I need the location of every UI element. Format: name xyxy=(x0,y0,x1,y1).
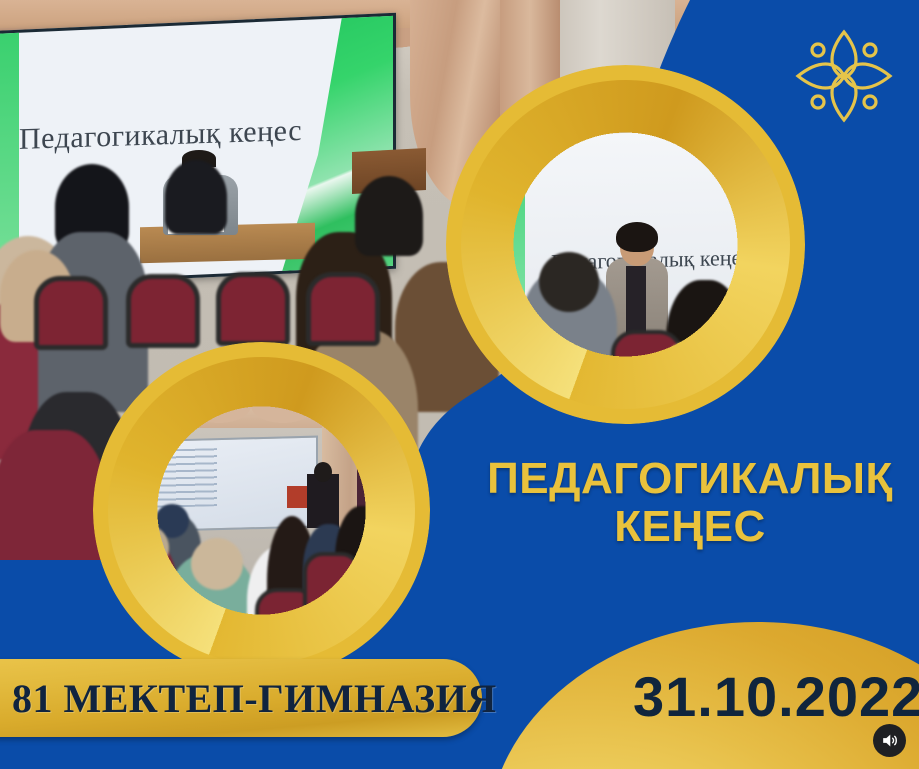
school-name-text: 81 МЕКТЕП-ГИМНАЗИЯ xyxy=(12,675,497,722)
circle-photo-right: Педагогикалық кеңе xyxy=(446,65,805,424)
circle-left-gold-ring xyxy=(93,342,430,679)
circle-photo-left xyxy=(93,342,430,679)
poster-title-line1: ПЕДАГОГИКАЛЫҚ xyxy=(470,455,910,503)
speaker-icon xyxy=(880,731,899,750)
screen-slide-text: Педагогикалық кеңес xyxy=(19,114,302,157)
audience-person xyxy=(165,160,227,234)
poster-title: ПЕДАГОГИКАЛЫҚ КЕҢЕС xyxy=(470,455,910,550)
volume-button[interactable] xyxy=(873,724,906,757)
school-name-banner: 81 МЕКТЕП-ГИМНАЗИЯ xyxy=(0,659,482,737)
audience-person xyxy=(355,176,423,256)
circle-right-gold-ring xyxy=(446,65,805,424)
poster-title-line2: КЕҢЕС xyxy=(470,503,910,551)
poster-stage: Педагогикалық кеңес xyxy=(0,0,919,769)
event-date: 31.10.2022 xyxy=(633,664,919,729)
